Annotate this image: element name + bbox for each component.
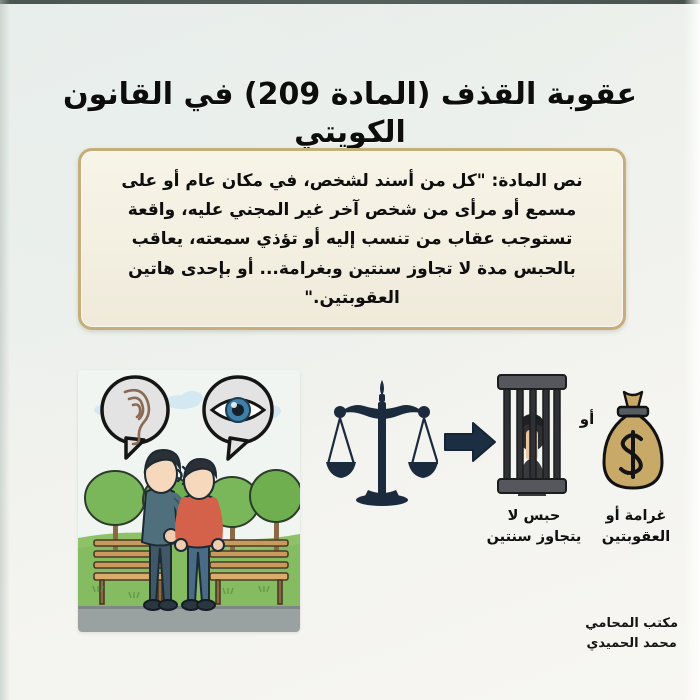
top-edge-strip [0,0,700,4]
money-bag-icon [600,390,666,494]
cell-bars [504,386,560,482]
scales-of-justice-icon [326,378,438,506]
prison-cell-icon [496,372,568,496]
outcome-imprisonment-line2: يتجاوز سنتين [486,527,582,548]
signature-office-line: مكتب المحامي [585,614,678,634]
signature-name-line: محمد الحميدي [585,634,678,654]
article-text-box: نص المادة: "كل من أسند لشخص، في مكان عام… [78,148,626,330]
law-office-signature: مكتب المحامي محمد الحميدي [585,614,678,653]
outcome-fine-line1: غرامة أو [588,506,684,527]
outcome-fine-line2: العقوبتين [588,527,684,548]
page-title: عقوبة القذف (المادة 209) في القانون الكو… [0,76,700,151]
illustration-band: أو حبس لا يتجاوز سنتين غرامة [0,368,700,668]
outcome-imprisonment-line1: حبس لا [486,506,582,527]
outcome-caption-imprisonment: حبس لا يتجاوز سنتين [486,506,582,548]
right-arrow-icon [443,420,497,464]
infographic-poster: عقوبة القذف (المادة 209) في القانون الكو… [0,0,700,700]
outcome-caption-fine: غرامة أو العقوبتين [588,506,684,548]
or-connector-label: أو [574,410,600,428]
article-text: نص المادة: "كل من أسند لشخص، في مكان عام… [101,167,603,313]
park-defamation-scene [78,370,300,632]
